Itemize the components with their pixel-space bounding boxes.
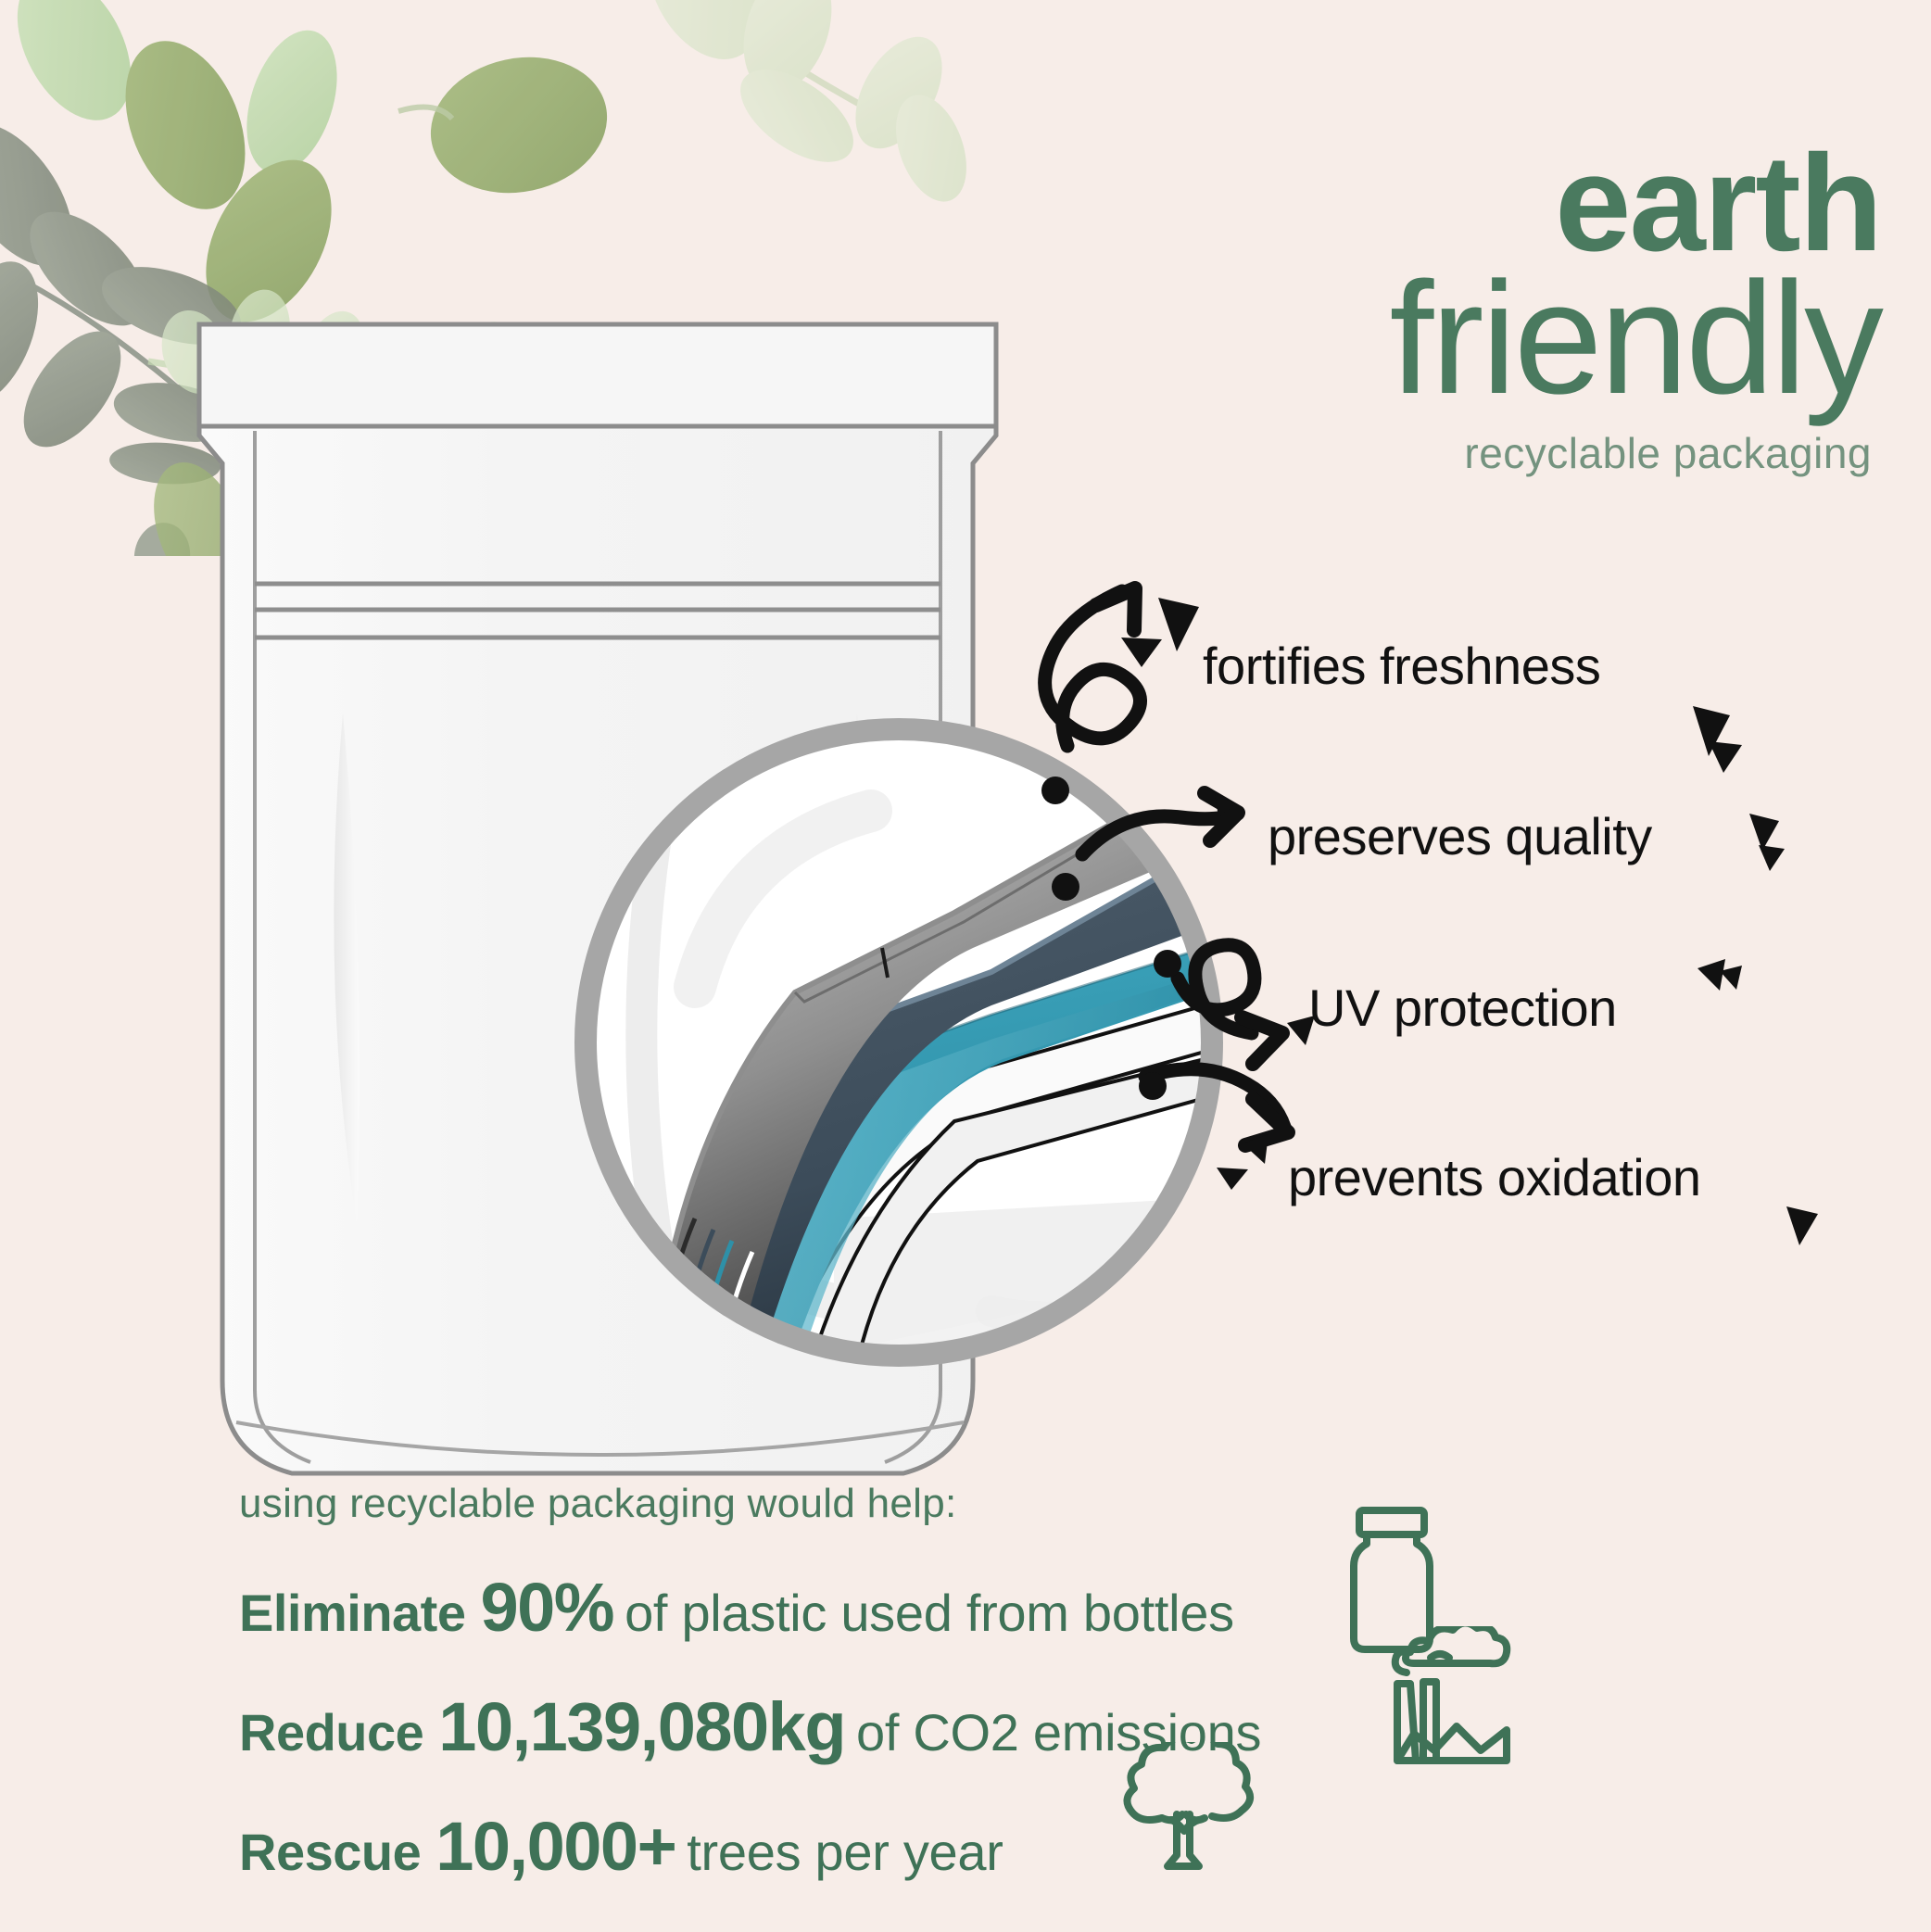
feature-label-fortifies-freshness: fortifies freshness [1203, 636, 1600, 696]
stat-value: 90% [480, 1568, 613, 1647]
magnifier-layer-cutaway [556, 700, 1242, 1385]
stat-verb: Reduce [239, 1702, 423, 1762]
stat-verb: Eliminate [239, 1583, 465, 1643]
headline-line-2: friendly [1093, 262, 1881, 415]
infographic-canvas: earth friendly recyclable packaging fort… [0, 0, 1931, 1932]
stat-verb: Rescue [239, 1822, 421, 1882]
stat-value: 10,139,080kg [438, 1687, 845, 1766]
stat-value: 10,000+ [435, 1807, 675, 1886]
feature-label-uv-protection: UV protection [1308, 978, 1617, 1038]
feature-label-preserves-quality: preserves quality [1268, 806, 1652, 866]
factory-icon [1382, 1626, 1521, 1765]
headline-subtitle: recyclable packaging [1093, 428, 1881, 478]
feature-label-prevents-oxidation: prevents oxidation [1288, 1147, 1701, 1207]
stat-tail: of plastic used from bottles [625, 1583, 1234, 1643]
stat-tail: trees per year [687, 1822, 1003, 1882]
page-title: earth friendly recyclable packaging [1093, 139, 1881, 478]
tree-icon [1108, 1742, 1256, 1881]
stat-row-rescue: Rescue 10,000+ trees per year [239, 1807, 1629, 1886]
